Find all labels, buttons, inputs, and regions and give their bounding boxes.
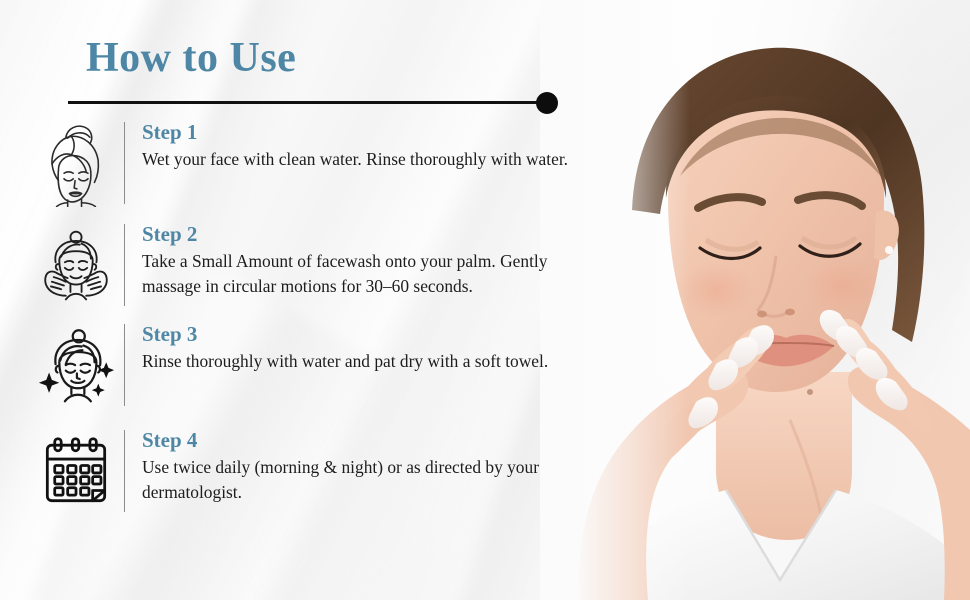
step-label: Step 1 [142, 120, 598, 144]
model-illustration [540, 0, 970, 600]
infographic-canvas: How to Use [0, 0, 970, 600]
page-title: How to Use [86, 34, 296, 82]
face-towel-wrap-icon [28, 118, 124, 210]
steps-list: Step 1 Wet your face with clean water. R… [28, 118, 598, 522]
glowing-face-sparkle-icon [28, 320, 124, 412]
cheek-left [678, 262, 754, 318]
step-body: Step 2 Take a Small Amount of facewash o… [125, 220, 598, 299]
sparkle-group [39, 362, 114, 396]
step-description: Rinse thoroughly with water and pat dry … [142, 349, 572, 374]
divider-line [68, 101, 540, 104]
step-description: Wet your face with clean water. Rinse th… [142, 147, 572, 172]
nostril-left [757, 311, 767, 318]
face-massage-hands-icon [28, 220, 124, 312]
step-item: Step 4 Use twice daily (morning & night)… [28, 426, 598, 518]
skincare-model-photo [540, 0, 970, 600]
title-divider [68, 92, 558, 114]
chin-mole [807, 389, 813, 395]
step-item: Step 2 Take a Small Amount of facewash o… [28, 220, 598, 312]
step-body: Step 4 Use twice daily (morning & night)… [125, 426, 598, 505]
earring [885, 246, 893, 254]
calendar-icon [28, 426, 124, 518]
step-description: Use twice daily (morning & night) or as … [142, 455, 572, 504]
step-body: Step 1 Wet your face with clean water. R… [125, 118, 598, 172]
step-item: Step 1 Wet your face with clean water. R… [28, 118, 598, 210]
step-description: Take a Small Amount of facewash onto you… [142, 249, 572, 298]
step-item: Step 3 Rinse thoroughly with water and p… [28, 320, 598, 412]
step-label: Step 3 [142, 322, 598, 346]
step-label: Step 4 [142, 428, 598, 452]
divider-dot-icon [536, 92, 558, 114]
step-body: Step 3 Rinse thoroughly with water and p… [125, 320, 598, 374]
nostril-right [785, 309, 795, 316]
cheek-right [804, 258, 880, 314]
step-label: Step 2 [142, 222, 598, 246]
